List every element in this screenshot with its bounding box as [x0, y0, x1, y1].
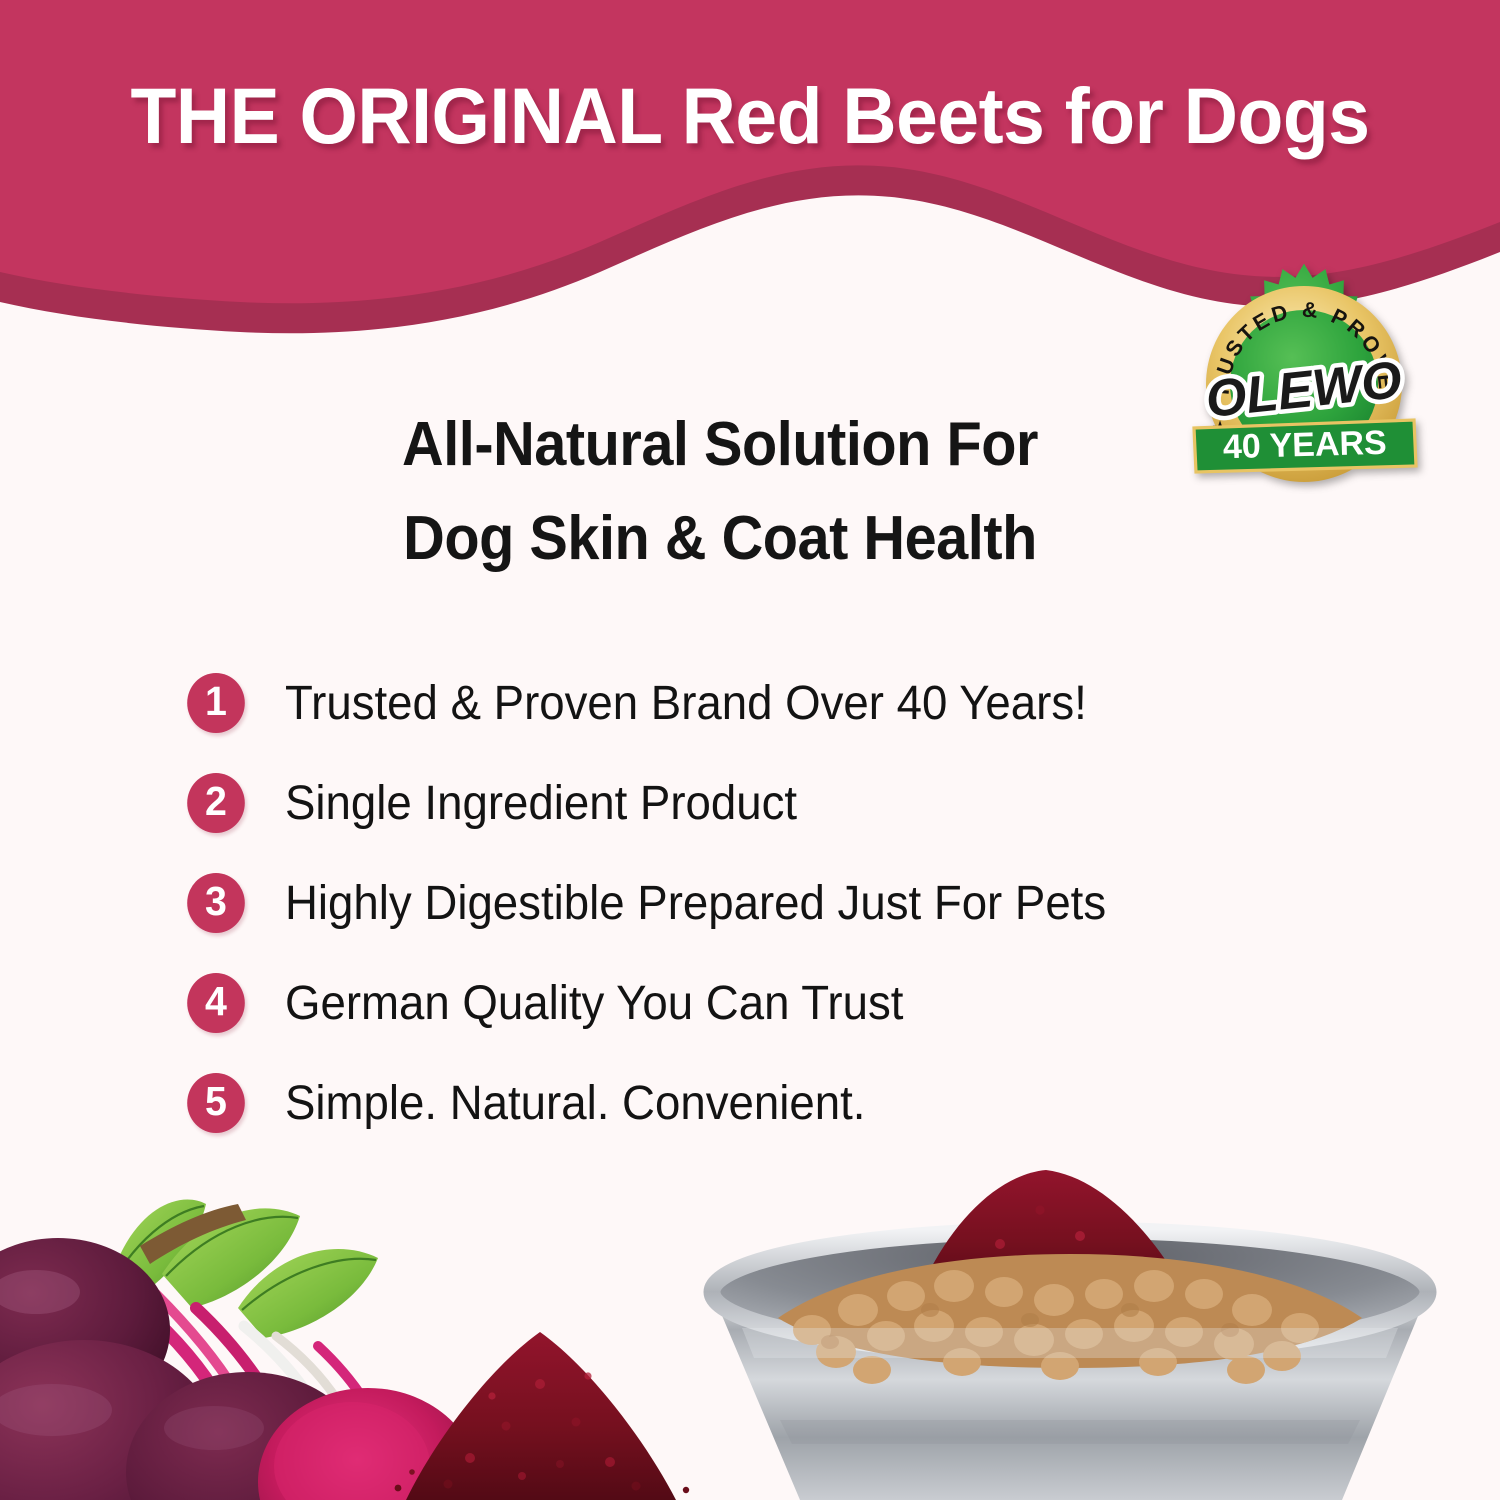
trusted-proven-seal-badge: TRUSTED & PROVEN ★ ★ OLEWO OLEWO 40 YEAR… — [1188, 262, 1420, 506]
subtitle-line-2: Dog Skin & Coat Health — [50, 492, 1389, 586]
seal-ribbon-text: 40 YEARS — [1222, 424, 1387, 467]
list-item-label: Simple. Natural. Convenient. — [285, 1076, 865, 1131]
page-title: THE ORIGINAL Red Beets for Dogs — [38, 70, 1463, 162]
list-item: 1 Trusted & Proven Brand Over 40 Years! — [186, 653, 1366, 753]
list-number-badge: 3 — [187, 873, 245, 933]
list-item-label: Single Ingredient Product — [285, 776, 797, 831]
seal-ribbon: 40 YEARS — [1194, 420, 1416, 472]
product-photo-strip — [0, 1170, 1500, 1500]
list-item-label: Trusted & Proven Brand Over 40 Years! — [285, 676, 1087, 731]
list-item-label: German Quality You Can Trust — [285, 976, 903, 1031]
list-item: 3 Highly Digestible Prepared Just For Pe… — [186, 853, 1366, 953]
list-item: 2 Single Ingredient Product — [186, 753, 1366, 853]
beets-photo-group — [0, 1199, 478, 1500]
list-item: 4 German Quality You Can Trust — [186, 953, 1366, 1053]
list-number-badge: 5 — [187, 1073, 245, 1133]
list-item-label: Highly Digestible Prepared Just For Pets — [285, 876, 1106, 931]
list-number-badge: 2 — [187, 773, 245, 833]
list-item: 5 Simple. Natural. Convenient. — [186, 1053, 1366, 1153]
list-number-badge: 4 — [187, 973, 245, 1033]
dog-bowl-photo-group — [712, 1170, 1428, 1500]
feature-list: 1 Trusted & Proven Brand Over 40 Years! … — [186, 653, 1366, 1153]
list-number-badge: 1 — [187, 673, 245, 733]
